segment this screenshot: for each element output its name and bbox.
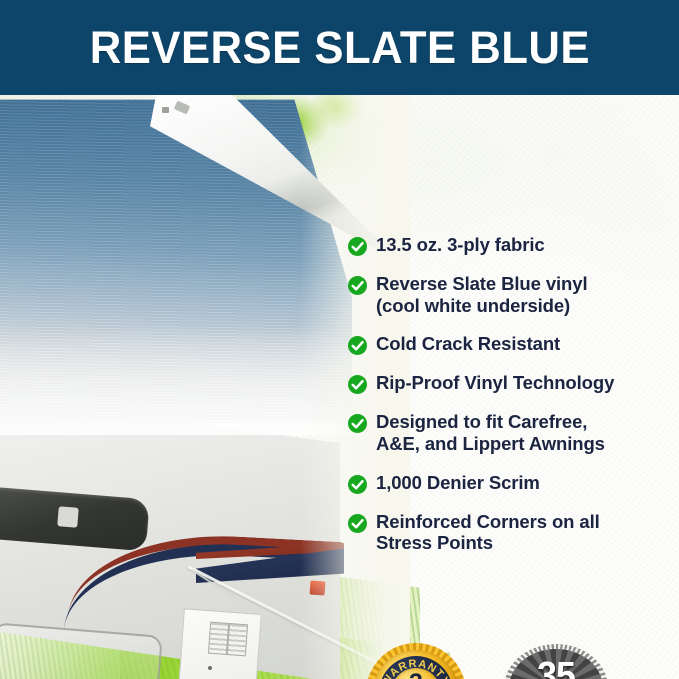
list-item: Rip-Proof Vinyl Technology bbox=[348, 372, 668, 394]
check-circle-icon bbox=[348, 475, 367, 494]
trust-badges: WARRANTY WARRANTY ★ ★ 3 YEARS 35 YEARS ★… bbox=[366, 640, 626, 679]
feature-list: 13.5 oz. 3-ply fabric Reverse Slate Blue… bbox=[348, 234, 668, 571]
check-circle-icon bbox=[348, 375, 367, 394]
list-item-label: Designed to fit Carefree, A&E, and Lippe… bbox=[376, 411, 605, 454]
list-item-sublabel: (cool white underside) bbox=[376, 295, 588, 317]
experience-badge-icon: 35 YEARS ★ EXPERIENCE ★ bbox=[494, 640, 622, 679]
warranty-seal-icon: WARRANTY WARRANTY ★ ★ 3 YEARS bbox=[366, 643, 466, 679]
list-item: 1,000 Denier Scrim bbox=[348, 472, 668, 494]
check-circle-icon bbox=[348, 414, 367, 433]
page-title: REVERSE SLATE BLUE bbox=[89, 22, 589, 74]
check-circle-icon bbox=[348, 514, 367, 533]
header-banner: REVERSE SLATE BLUE bbox=[0, 0, 679, 95]
check-circle-icon bbox=[348, 276, 367, 295]
list-item-sublabel: A&E, and Lippert Awnings bbox=[376, 433, 605, 455]
product-photo: 13.5 oz. 3-ply fabric Reverse Slate Blue… bbox=[0, 95, 679, 679]
list-item-label: Reverse Slate Blue vinyl (cool white und… bbox=[376, 273, 588, 316]
list-item-label: Reinforced Corners on all Stress Points bbox=[376, 511, 600, 554]
list-item-label: 13.5 oz. 3-ply fabric bbox=[376, 234, 545, 256]
list-item-label: Rip-Proof Vinyl Technology bbox=[376, 372, 614, 394]
rv-window-latch bbox=[57, 506, 79, 528]
list-item-label: Cold Crack Resistant bbox=[376, 333, 560, 355]
list-item: Designed to fit Carefree, A&E, and Lippe… bbox=[348, 411, 668, 454]
awning-roller-clip-small bbox=[162, 107, 169, 113]
list-item: Reverse Slate Blue vinyl (cool white und… bbox=[348, 273, 668, 316]
rv-vent-screw bbox=[208, 666, 212, 670]
list-item-label: 1,000 Denier Scrim bbox=[376, 472, 540, 494]
check-circle-icon bbox=[348, 237, 367, 256]
seal-number: 3 bbox=[391, 667, 441, 679]
badge-number: 35 bbox=[512, 652, 600, 679]
list-item: 13.5 oz. 3-ply fabric bbox=[348, 234, 668, 256]
list-item: Reinforced Corners on all Stress Points bbox=[348, 511, 668, 554]
list-item: Cold Crack Resistant bbox=[348, 333, 668, 355]
list-item-sublabel: Stress Points bbox=[376, 532, 600, 554]
check-circle-icon bbox=[348, 336, 367, 355]
